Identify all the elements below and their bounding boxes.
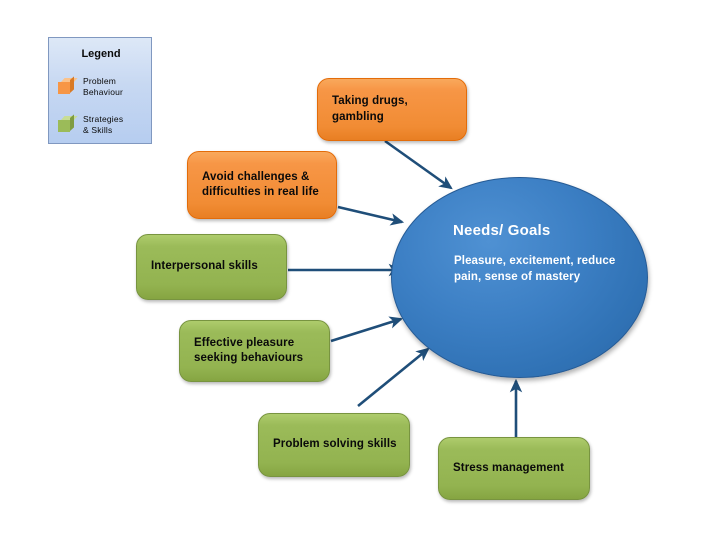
legend-item-label: Strategies & Skills — [83, 114, 153, 136]
node-problem-solving-skills[interactable]: Problem solving skills — [258, 413, 410, 477]
hub-title: Needs/ Goals — [453, 222, 550, 239]
node-interpersonal-skills[interactable]: Interpersonal skills — [136, 234, 287, 300]
legend-title: Legend — [49, 48, 153, 60]
node-label: Taking drugs, gambling — [332, 94, 458, 125]
legend-label-line2: & Skills — [83, 125, 153, 136]
legend-item-strategies-skills: Strategies & Skills — [58, 114, 153, 144]
hub-subtitle: Pleasure, excitement, reduce pain, sense… — [454, 253, 629, 285]
node-effective-pleasure-seeking[interactable]: Effective pleasure seeking behaviours — [179, 320, 330, 382]
node-stress-management[interactable]: Stress management — [438, 437, 590, 500]
edge-problem-solving-to-hub — [358, 349, 428, 406]
node-label: Effective pleasure seeking behaviours — [194, 336, 321, 367]
legend-item-label: Problem Behaviour — [83, 76, 153, 98]
diagram-canvas: Legend Problem Behaviour Strategies & Sk… — [0, 0, 720, 540]
edge-taking-drugs-to-hub — [385, 141, 451, 188]
node-avoid-challenges[interactable]: Avoid challenges & difficulties in real … — [187, 151, 337, 219]
node-needs-goals[interactable]: Needs/ Goals Pleasure, excitement, reduc… — [391, 177, 648, 378]
edge-effective-pleasure-to-hub — [331, 319, 401, 341]
cube-swatch-icon — [58, 78, 74, 94]
legend-label-line2: Behaviour — [83, 87, 153, 98]
node-label: Interpersonal skills — [151, 259, 258, 275]
node-label: Avoid challenges & difficulties in real … — [202, 170, 328, 201]
legend-label-line1: Strategies — [83, 114, 153, 125]
cube-swatch-icon — [58, 116, 74, 132]
legend-panel: Legend Problem Behaviour Strategies & Sk… — [48, 37, 152, 144]
legend-label-line1: Problem — [83, 76, 153, 87]
node-label: Stress management — [453, 461, 564, 477]
edge-avoid-challenges-to-hub — [338, 207, 402, 222]
node-taking-drugs[interactable]: Taking drugs, gambling — [317, 78, 467, 141]
node-label: Problem solving skills — [273, 437, 397, 453]
legend-item-problem-behaviour: Problem Behaviour — [58, 76, 153, 106]
